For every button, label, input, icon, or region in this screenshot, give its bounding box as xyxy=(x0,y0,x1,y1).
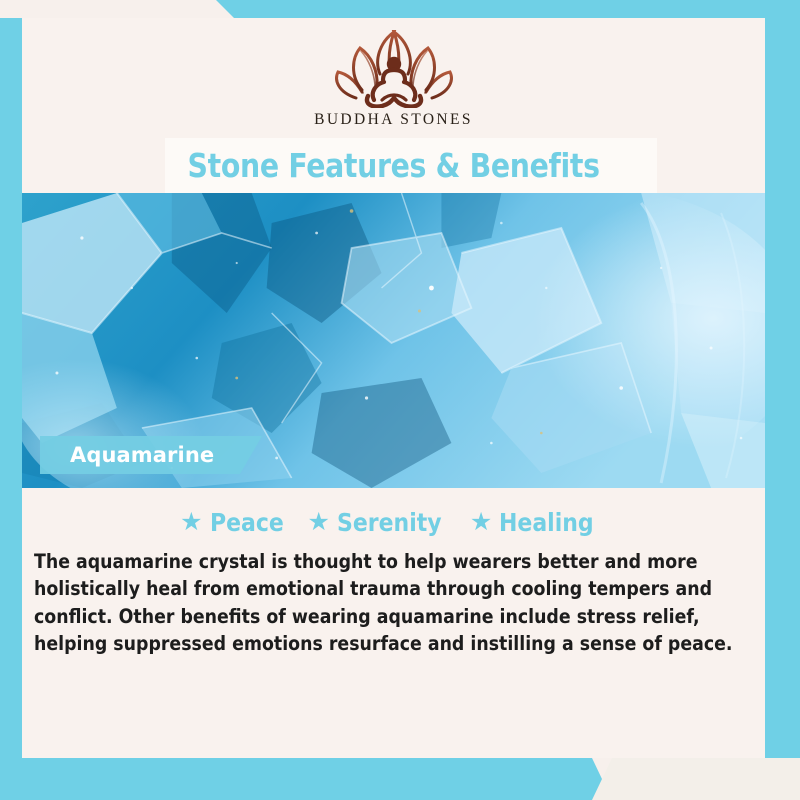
keyword-row: ★ Peace ★ Serenity ★ Healing xyxy=(22,510,765,535)
poster-root: BUDDHA STONES Stone Features & Benefits xyxy=(0,0,800,800)
lotus-meditation-icon xyxy=(328,30,460,108)
brand-header: BUDDHA STONES xyxy=(22,18,765,138)
top-left-cream-wedge xyxy=(0,0,236,20)
star-icon: ★ xyxy=(308,510,330,535)
keyword-label: Serenity xyxy=(337,510,442,535)
keyword-healing: ★ Healing xyxy=(456,510,607,535)
stone-name-label: Aquamarine xyxy=(40,443,214,467)
star-icon: ★ xyxy=(470,510,492,535)
keyword-serenity: ★ Serenity xyxy=(294,510,456,535)
left-accent-rail xyxy=(0,18,22,758)
star-icon: ★ xyxy=(180,510,202,535)
description-paragraph: The aquamarine crystal is thought to hel… xyxy=(34,548,774,658)
content-panel: BUDDHA STONES Stone Features & Benefits xyxy=(22,18,765,758)
page-title: Stone Features & Benefits xyxy=(187,149,599,182)
stone-name-ribbon: Aquamarine xyxy=(40,436,262,474)
bottom-right-cream-wedge xyxy=(592,758,800,800)
keyword-label: Healing xyxy=(499,510,594,535)
title-banner: Stone Features & Benefits xyxy=(22,138,765,193)
keyword-label: Peace xyxy=(210,510,284,535)
aquamarine-crystal-photo: Aquamarine xyxy=(22,193,765,488)
brand-name: BUDDHA STONES xyxy=(314,111,473,129)
keyword-peace: ★ Peace xyxy=(180,510,293,535)
